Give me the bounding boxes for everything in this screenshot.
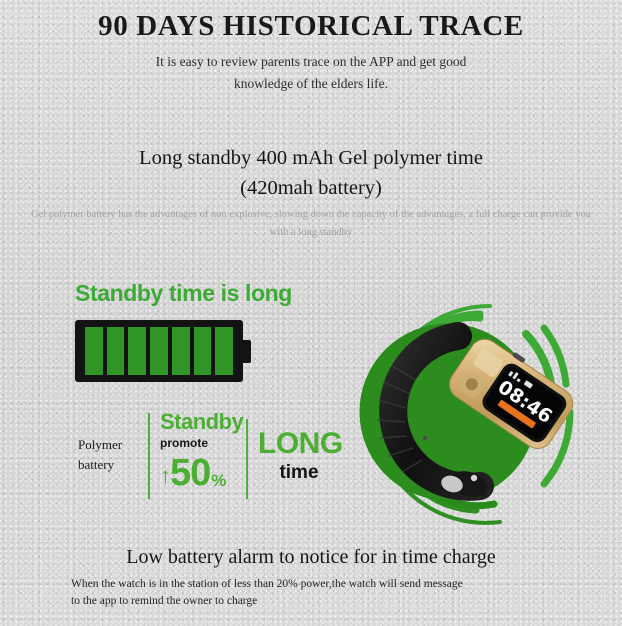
battery-cell — [150, 327, 168, 375]
footer-title: Low battery alarm to notice for in time … — [0, 543, 622, 571]
standby-note: Gel polymer battery has the advantages o… — [26, 206, 596, 242]
battery-cell — [215, 327, 233, 375]
standby-time-headline: Standby time is long — [75, 280, 292, 307]
stats-divider — [148, 413, 150, 499]
polymer-label-line-1: Polymer — [78, 435, 158, 455]
promote-value-row: ↑ 50 % — [160, 453, 250, 493]
battery-cell — [85, 327, 103, 375]
footer-body-line-2: to the app to remind the owner to charge — [71, 593, 561, 610]
standby-stat-label: Standby — [160, 410, 250, 434]
promote-stat-label: promote — [160, 435, 250, 451]
standby-heading-line-1: Long standby 400 mAh Gel polymer time — [0, 143, 622, 173]
stats-divider — [246, 419, 248, 499]
header-block: 90 DAYS HISTORICAL TRACE It is easy to r… — [0, 8, 622, 95]
standby-heading-line-2: (420mah battery) — [0, 173, 622, 203]
footer-body-line-1: When the watch is in the station of less… — [71, 576, 561, 593]
promote-value: 50 — [170, 453, 210, 493]
header-subtitle: It is easy to review parents trace on th… — [0, 51, 622, 95]
battery-body — [75, 320, 243, 382]
battery-terminal-icon — [243, 340, 251, 363]
standby-heading: Long standby 400 mAh Gel polymer time (4… — [0, 143, 622, 203]
page-title: 90 DAYS HISTORICAL TRACE — [0, 8, 622, 44]
percent-sign: % — [211, 469, 226, 493]
battery-cell — [107, 327, 125, 375]
polymer-battery-label: Polymer battery — [78, 435, 158, 475]
battery-icon — [75, 320, 243, 382]
product-marketing-banner: 90 DAYS HISTORICAL TRACE It is easy to r… — [0, 0, 622, 626]
header-subtitle-line-2: knowledge of the elders life. — [0, 73, 622, 95]
stats-row: Polymer battery Standby promote ↑ 50 % L… — [70, 405, 360, 505]
battery-cell — [128, 327, 146, 375]
battery-cell — [172, 327, 190, 375]
product-photo: 08:46 — [330, 288, 622, 528]
battery-cell — [194, 327, 212, 375]
header-subtitle-line-1: It is easy to review parents trace on th… — [0, 51, 622, 73]
standby-promote-stat: Standby promote ↑ 50 % — [160, 410, 250, 493]
polymer-label-line-2: battery — [78, 455, 158, 475]
footer-body: When the watch is in the station of less… — [71, 576, 561, 610]
